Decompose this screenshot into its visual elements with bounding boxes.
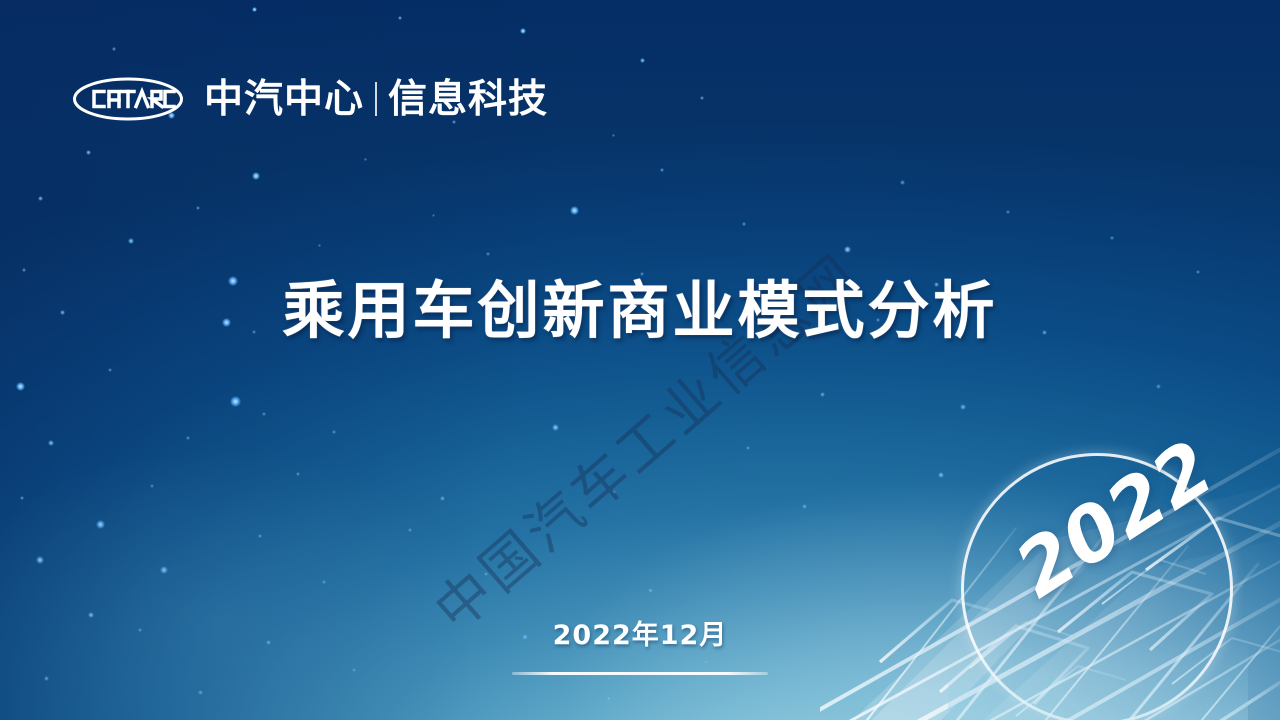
slide-date: 2022年12月 <box>0 622 1280 649</box>
brand-lockup: 中汽中心 信息科技 <box>72 70 548 128</box>
brand-name-primary: 中汽中心 <box>204 80 364 119</box>
page-title: 乘用车创新商业模式分析 <box>0 276 1280 345</box>
date-underline <box>512 672 768 675</box>
brand-divider <box>375 82 377 116</box>
title-slide: 2022 <box>0 0 1280 720</box>
brand-wordmark: 中汽中心 信息科技 <box>204 80 548 119</box>
catarc-ellipse-logo-icon <box>72 76 184 122</box>
brand-name-secondary: 信息科技 <box>388 80 548 119</box>
